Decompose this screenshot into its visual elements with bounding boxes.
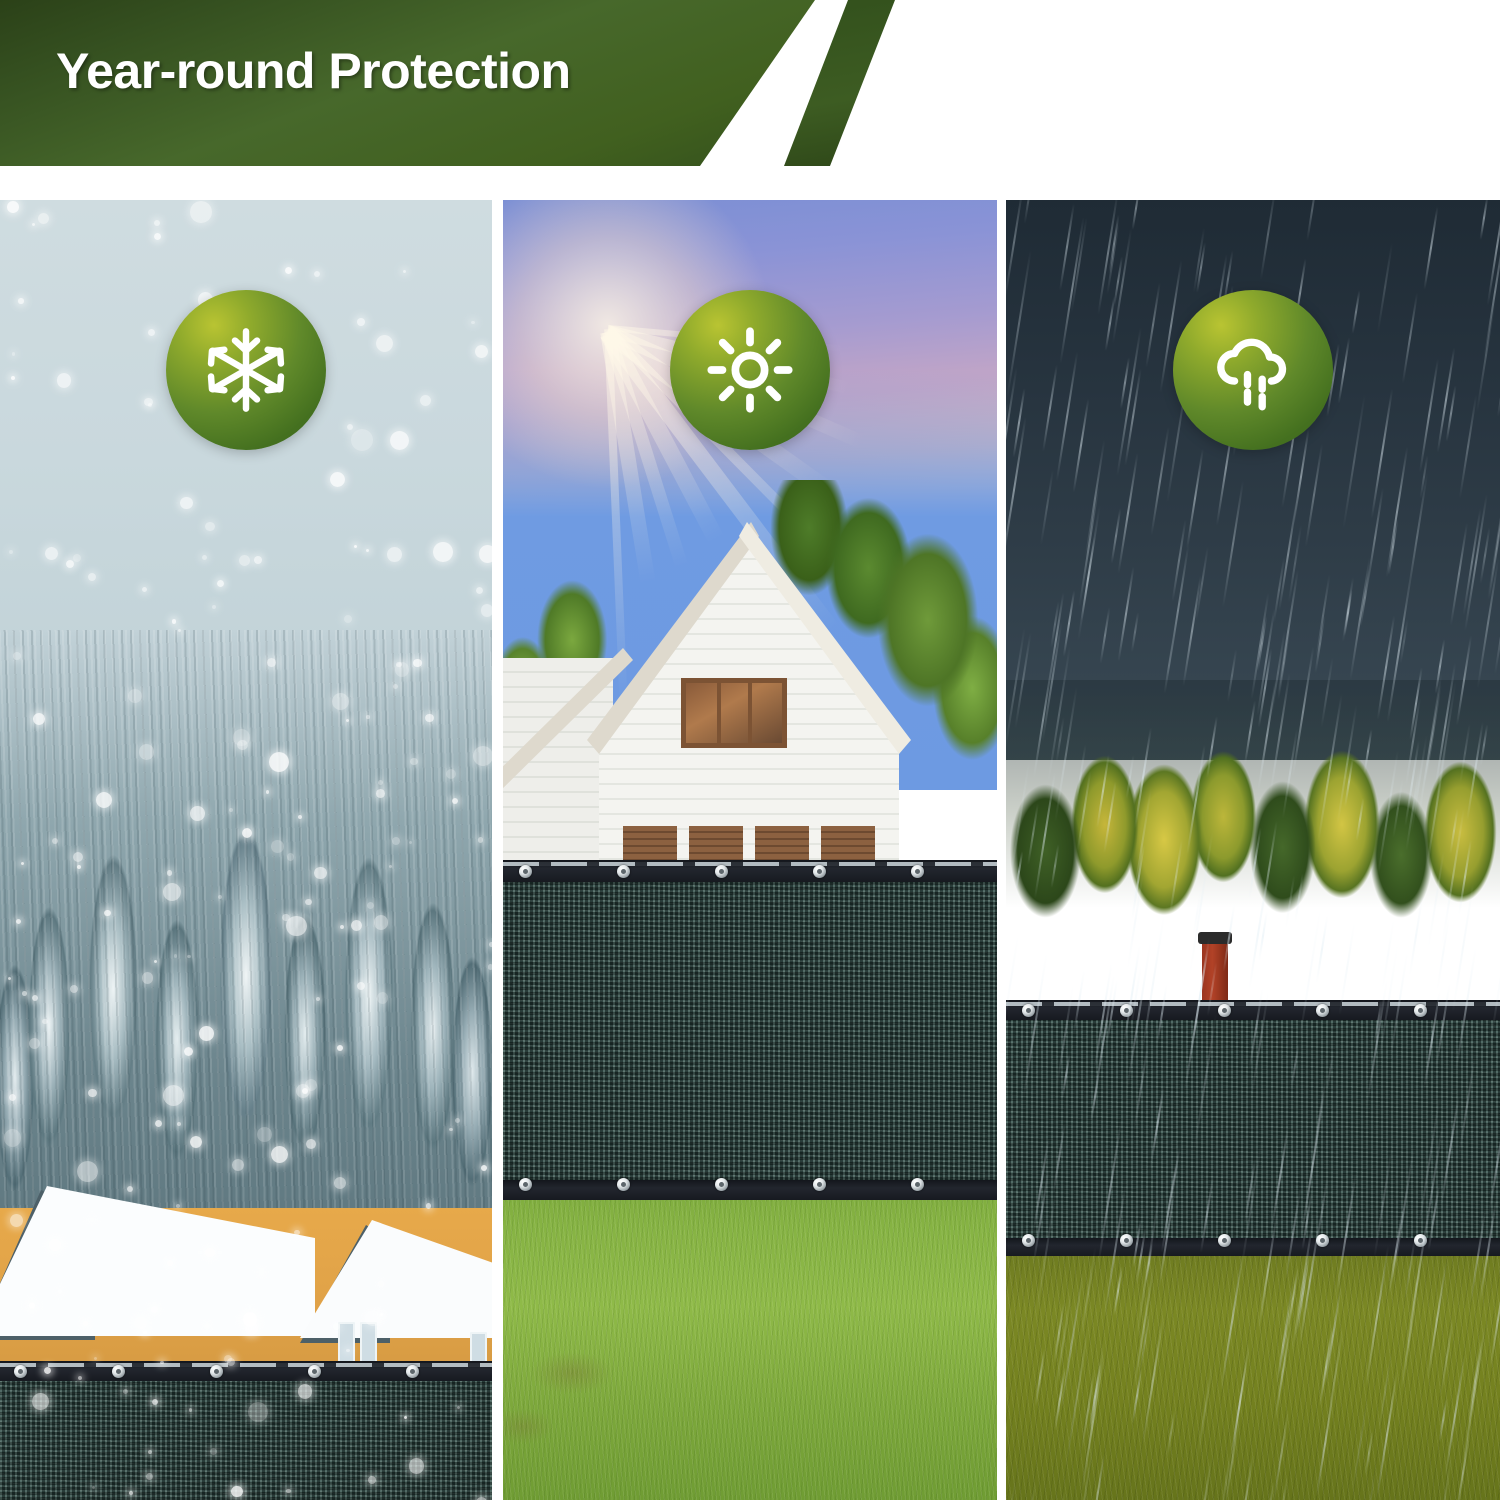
fence-grommet bbox=[1022, 1004, 1035, 1017]
fence-grommet bbox=[715, 865, 728, 878]
rain-lawn bbox=[1006, 1246, 1500, 1500]
fence-grommet bbox=[1218, 1004, 1231, 1017]
fence-grommet bbox=[1120, 1234, 1133, 1247]
snowflake-icon bbox=[166, 290, 326, 450]
weather-panels bbox=[0, 200, 1500, 1500]
fence-grommet bbox=[813, 1178, 826, 1191]
fence-grommet bbox=[210, 1365, 223, 1378]
privacy-fence-winter bbox=[0, 1361, 492, 1500]
fence-grommet bbox=[1218, 1234, 1231, 1247]
fence-grommet bbox=[1414, 1004, 1427, 1017]
fence-mesh bbox=[503, 860, 997, 1200]
fence-grommet bbox=[112, 1365, 125, 1378]
fence-grommet bbox=[406, 1365, 419, 1378]
fence-grommet bbox=[1414, 1234, 1427, 1247]
badge-summer bbox=[670, 290, 830, 450]
panel-rain bbox=[1006, 200, 1500, 1500]
fence-band-highlight bbox=[503, 862, 997, 866]
window-mullion bbox=[748, 683, 752, 743]
fence-grommet bbox=[519, 865, 532, 878]
fence-band-highlight bbox=[0, 1363, 492, 1367]
fence-band-highlight bbox=[1006, 1002, 1500, 1006]
fence-mesh bbox=[1006, 1000, 1500, 1256]
panel-winter bbox=[0, 200, 492, 1500]
fence-grommet bbox=[911, 865, 924, 878]
fence-grommet bbox=[308, 1365, 321, 1378]
privacy-fence-summer bbox=[503, 860, 997, 1200]
summer-lawn bbox=[503, 1166, 997, 1500]
fence-grommet bbox=[1316, 1004, 1329, 1017]
sun-icon bbox=[670, 290, 830, 450]
fence-grommet bbox=[617, 865, 630, 878]
summer-attic-window bbox=[681, 678, 787, 748]
banner-title: Year-round Protection bbox=[56, 42, 571, 100]
panel-summer bbox=[503, 200, 997, 1500]
privacy-fence-rain bbox=[1006, 1000, 1500, 1256]
badge-rain bbox=[1173, 290, 1333, 450]
rain-chimney-cap bbox=[1198, 932, 1232, 944]
fence-grommet bbox=[1120, 1004, 1133, 1017]
fence-grommet bbox=[715, 1178, 728, 1191]
fence-grommet bbox=[1316, 1234, 1329, 1247]
fence-mesh bbox=[0, 1361, 492, 1500]
fence-grommet bbox=[1022, 1234, 1035, 1247]
fence-grommet bbox=[617, 1178, 630, 1191]
product-feature-image: Year-round Protection bbox=[0, 0, 1500, 1500]
fence-grommet bbox=[911, 1178, 924, 1191]
cloud-rain-icon bbox=[1173, 290, 1333, 450]
fence-grommet bbox=[813, 865, 826, 878]
rain-sky bbox=[1006, 200, 1500, 760]
winter-pine-forest bbox=[0, 630, 492, 1270]
fence-grommet bbox=[14, 1365, 27, 1378]
header-banner: Year-round Protection bbox=[0, 0, 900, 166]
window-mullion bbox=[717, 683, 721, 743]
badge-winter bbox=[166, 290, 326, 450]
fence-grommet bbox=[519, 1178, 532, 1191]
winter-house bbox=[0, 1180, 492, 1380]
